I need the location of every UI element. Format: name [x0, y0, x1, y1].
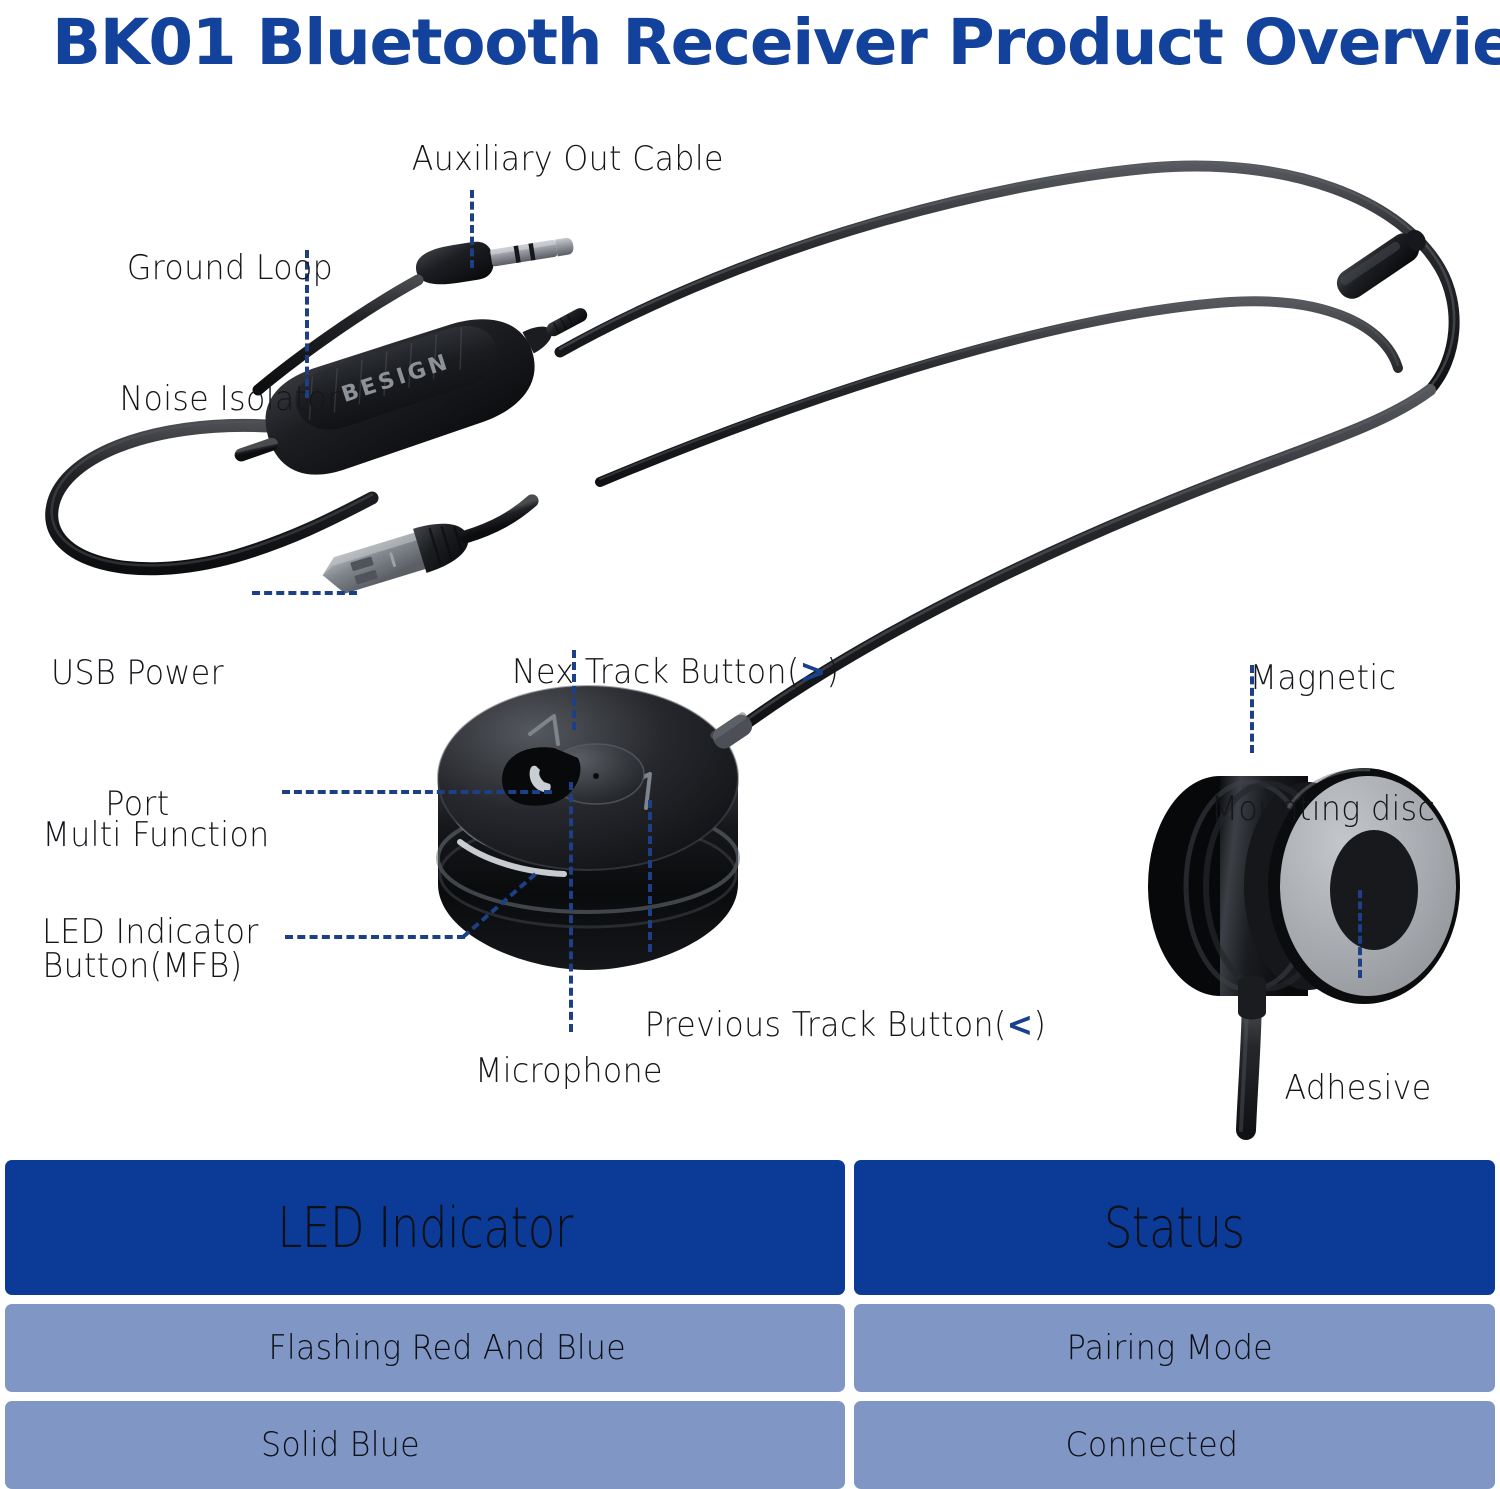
callout-text: Nex Track Button(: [512, 652, 800, 692]
table-header-led-indicator: LED Indicator: [5, 1160, 845, 1295]
leader-aux-out: [470, 190, 474, 268]
table-cell-status: Pairing Mode: [854, 1304, 1495, 1392]
callout-line: Mounting disc: [1207, 788, 1440, 832]
callout-text: ): [1034, 1005, 1047, 1045]
cell-label: Pairing Mode: [1067, 1328, 1273, 1368]
header-label: Status: [1104, 1195, 1245, 1260]
callout-line: Noise Isolator: [109, 378, 351, 422]
led-status-table: LED Indicator Status Flashing Red And Bl…: [5, 1160, 1495, 1484]
callout-text: ): [827, 652, 840, 692]
cell-label: Flashing Red And Blue: [268, 1328, 625, 1368]
leader-usb-power: [252, 591, 357, 595]
callout-ground-loop-noise-isolator: Ground Loop Noise Isolator: [109, 160, 351, 465]
leader-microphone: [569, 782, 573, 1032]
table-row: Flashing Red And Blue Pairing Mode: [5, 1304, 1495, 1392]
callout-next-track-button: Nex Track Button(>): [491, 607, 839, 694]
callout-multi-function-button: Multi Function Button(MFB): [43, 727, 270, 1032]
callout-microphone: Microphone: [475, 1050, 663, 1094]
callout-text: Previous Track Button(: [645, 1005, 1007, 1045]
callout-previous-track-button: Previous Track Button(<): [624, 960, 1046, 1047]
callout-line: Multi Function: [43, 814, 270, 858]
callout-led-indicator: LED Indicator: [42, 911, 259, 955]
prev-arrow-icon: <: [1007, 1005, 1034, 1045]
table-cell-status: Connected: [854, 1401, 1495, 1489]
page-title: BK01 Bluetooth Receiver Product Overview: [52, 2, 1480, 84]
callout-line: USB Power: [38, 652, 238, 696]
table-header-row: LED Indicator Status: [5, 1160, 1495, 1295]
next-arrow-icon: >: [800, 652, 827, 692]
callout-line: Adhesive: [1265, 1067, 1451, 1111]
leader-adhesive-sticker: [1358, 890, 1362, 978]
leader-mfb: [282, 790, 552, 794]
table-cell-led-indicator: Flashing Red And Blue: [5, 1304, 845, 1392]
leader-led-indicator: [285, 935, 465, 939]
callout-line: Magnetic: [1207, 657, 1440, 701]
cell-label: Solid Blue: [261, 1425, 420, 1465]
cell-label: Connected: [1066, 1425, 1239, 1465]
header-label: LED Indicator: [277, 1195, 572, 1260]
callout-magnetic-mounting-disc: Magnetic Mounting disc: [1207, 570, 1440, 875]
leader-prev-track: [648, 800, 652, 952]
table-header-status: Status: [854, 1160, 1495, 1295]
callout-auxiliary-out-cable: Auxiliary Out Cable: [412, 138, 724, 182]
table-cell-led-indicator: Solid Blue: [5, 1401, 845, 1489]
callout-line: Ground Loop: [109, 247, 351, 291]
table-row: Solid Blue Connected: [5, 1401, 1495, 1489]
